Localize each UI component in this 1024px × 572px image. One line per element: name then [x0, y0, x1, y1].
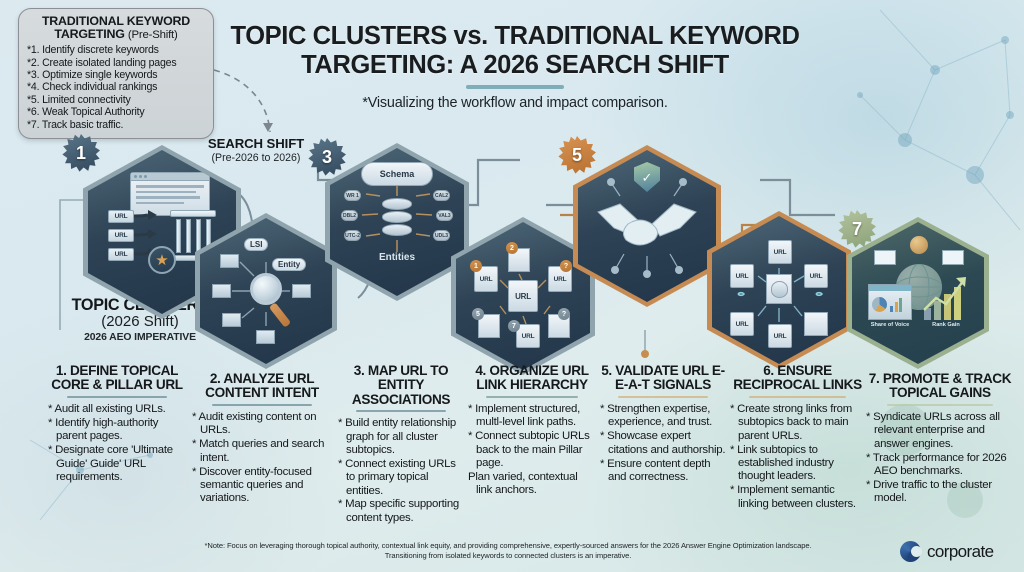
magnifier-icon — [250, 273, 282, 305]
step-rule — [486, 396, 578, 399]
step-bullets: * Implement structured, multl-level link… — [468, 403, 596, 497]
step-2-hexagon[interactable]: LSI Entity 2 — [200, 218, 332, 364]
list-item: *7. Track basic traffic. — [27, 119, 205, 131]
step-badge-3: 3 — [308, 138, 346, 176]
step-bullets: * Syndicate URLs across all relevant ent… — [866, 411, 1014, 505]
rank-gain-label: Rank Gain — [922, 322, 970, 328]
traditional-keyword-box: TRADITIONAL KEYWORD TARGETING (Pre-Shift… — [18, 8, 214, 139]
list-item: *1. Identify discrete keywords — [27, 44, 205, 56]
step-3-hexagon[interactable]: Schema WR 1 DBL2 UTC-2 CAL2 VAL3 UDL3 En… — [330, 148, 464, 296]
brand-logo: corporate — [900, 541, 993, 562]
step-4-hexagon[interactable]: URL URL URL URL 1 2 ? 5 7 ? — [456, 222, 590, 370]
headline-line-2: TARGETING: A 2026 SEARCH SHIFT — [301, 51, 729, 79]
search-shift-title: SEARCH SHIFT — [196, 136, 316, 151]
lsi-bubble: LSI — [244, 238, 268, 251]
list-item: * Strengthen expertise, experience, and … — [600, 403, 726, 430]
list-item: *2. Create isolated landing pages — [27, 57, 205, 69]
list-item: *4. Check individual rankings — [27, 81, 205, 93]
step-rule — [887, 404, 994, 407]
step-column-5: 5. VALIDATE URL E-E-A-T SIGNALS * Streng… — [600, 364, 726, 485]
footer-line-2: Transitioning from isolated keywords to … — [140, 551, 876, 561]
step-rule — [212, 404, 313, 407]
step-badge-1: 1 — [62, 134, 100, 172]
url-chip: URL — [108, 229, 134, 242]
step-7-hexagon[interactable]: Share of Voice Rank Gain 7 — [852, 222, 984, 364]
entity-bubble: Entity — [272, 258, 306, 271]
footer-note: *Note: Focus on leveraging thorough topi… — [140, 541, 876, 562]
step-rule — [67, 396, 166, 399]
number-dot: 2 — [506, 242, 518, 254]
traditional-keyword-list: *1. Identify discrete keywords *2. Creat… — [27, 44, 205, 131]
list-item: * Track performance for 2026 AEO benchma… — [866, 452, 1014, 479]
step-heading: 3. MAP URL TO ENTITY ASSOCIATIONS — [338, 364, 464, 407]
list-item: * Ensure content depth and correctness. — [600, 458, 726, 485]
mail-icon — [874, 250, 896, 265]
brand-name: corporate — [927, 542, 993, 562]
list-item: * Drive traffic to the cluster model. — [866, 479, 1014, 506]
step-column-4: 4. ORGANIZE URL LINK HIERARCHY * Impleme… — [468, 364, 596, 498]
list-item: * Link subtopics to established industry… — [730, 444, 865, 484]
share-of-voice-chart — [868, 284, 912, 320]
share-of-voice-label: Share of Voice — [866, 322, 914, 328]
number-dot: 7 — [508, 320, 520, 332]
list-item: * Connect existing URLs to primary topic… — [338, 458, 464, 498]
list-item: * Create strong links from subtopics bac… — [730, 403, 865, 443]
step-heading: 1. DEFINE TOPICAL CORE & PILLAR URL — [48, 364, 186, 393]
step-heading: 2. ANALYZE URL CONTENT INTENT — [192, 372, 332, 401]
list-item: * Implement structured, multl-level link… — [468, 403, 596, 430]
headline-text: TOPIC CLUSTERS vs. TRADITIONAL KEYWORD T… — [215, 22, 815, 80]
step-heading: 6. ENSURE RECIPROCAL LINKS — [730, 364, 865, 393]
list-item: * Syndicate URLs across all relevant ent… — [866, 411, 1014, 451]
step-bullets: * Strengthen expertise, experience, and … — [600, 403, 726, 484]
list-item: * Match queries and search intent. — [192, 438, 332, 465]
number-dot: ? — [560, 260, 572, 272]
list-item: Plan varied, contextual link anchors. — [468, 471, 596, 498]
page-title: TOPIC CLUSTERS vs. TRADITIONAL KEYWORD T… — [215, 22, 815, 111]
url-chip: URL — [108, 248, 134, 261]
step-column-1: 1. DEFINE TOPICAL CORE & PILLAR URL * Au… — [48, 364, 186, 485]
step-column-2: 2. ANALYZE URL CONTENT INTENT * Audit ex… — [192, 372, 332, 506]
list-item: * Connect subtopic URLs back to the main… — [468, 430, 596, 470]
star-icon: ★ — [148, 246, 176, 274]
footer-line-1: *Note: Focus on leveraging thorough topi… — [140, 541, 876, 551]
list-item: * Identify high-authority parent pages. — [48, 417, 186, 444]
step-bullets: * Create strong links from subtopics bac… — [730, 403, 865, 511]
growth-arrow-icon — [922, 274, 970, 314]
step-rule — [356, 410, 447, 413]
subtitle: *Visualizing the workflow and impact com… — [215, 95, 815, 111]
step-bullets: * Audit all existing URLs. * Identify hi… — [48, 403, 186, 484]
infographic-canvas: TRADITIONAL KEYWORD TARGETING (Pre-Shift… — [0, 0, 1024, 572]
list-item: * Map specific supporting content types. — [338, 498, 464, 525]
traditional-keyword-title: TRADITIONAL KEYWORD TARGETING (Pre-Shift… — [27, 15, 205, 41]
step-rule — [618, 396, 709, 399]
list-item: * Discover entity-focused semantic queri… — [192, 466, 332, 506]
list-item: * Audit all existing URLs. — [48, 403, 186, 416]
coin-icon — [910, 236, 928, 254]
step-bullets: * Build entity relationship graph for al… — [338, 417, 464, 525]
list-item: * Build entity relationship graph for al… — [338, 417, 464, 457]
step-column-7: 7. PROMOTE & TRACK TOPICAL GAINS * Syndi… — [866, 372, 1014, 506]
step-6-hexagon[interactable]: URL URL URL URL URL — [712, 216, 846, 364]
step-rule — [749, 396, 846, 399]
list-item: *5. Limited connectivity — [27, 94, 205, 106]
step-heading: 5. VALIDATE URL E-E-A-T SIGNALS — [600, 364, 726, 393]
step-heading: 4. ORGANIZE URL LINK HIERARCHY — [468, 364, 596, 393]
step-heading: 7. PROMOTE & TRACK TOPICAL GAINS — [866, 372, 1014, 401]
title-underline-rule — [466, 85, 564, 89]
number-dot: ? — [558, 308, 570, 320]
list-item: *3. Optimize single keywords — [27, 69, 205, 81]
step-badge-5: 5 — [558, 136, 596, 174]
step-5-hexagon[interactable]: ✓ — [578, 150, 716, 302]
list-item: *6. Weak Topical Authority — [27, 106, 205, 118]
list-item: * Implement semantic linking between clu… — [730, 484, 865, 511]
list-item: * Designate core 'Ultimate Guide' Guide'… — [48, 444, 186, 484]
url-chip: URL — [108, 210, 134, 223]
mail-icon — [942, 250, 964, 265]
step-column-3: 3. MAP URL TO ENTITY ASSOCIATIONS * Buil… — [338, 364, 464, 526]
entities-label: Entities — [360, 252, 434, 263]
list-item: * Audit existing content on URLs. — [192, 411, 332, 438]
step-column-6: 6. ENSURE RECIPROCAL LINKS * Create stro… — [730, 364, 865, 511]
list-item: * Showcase expert citations and authorsh… — [600, 430, 726, 457]
traditional-keyword-title-sub: (Pre-Shift) — [128, 29, 178, 41]
number-dot: 5 — [472, 308, 484, 320]
number-dot: 1 — [470, 260, 482, 272]
headline-line-1: TOPIC CLUSTERS vs. TRADITIONAL KEYWORD — [231, 22, 800, 50]
step-bullets: * Audit existing content on URLs. * Matc… — [192, 411, 332, 505]
corporate-logo-icon — [900, 541, 921, 562]
